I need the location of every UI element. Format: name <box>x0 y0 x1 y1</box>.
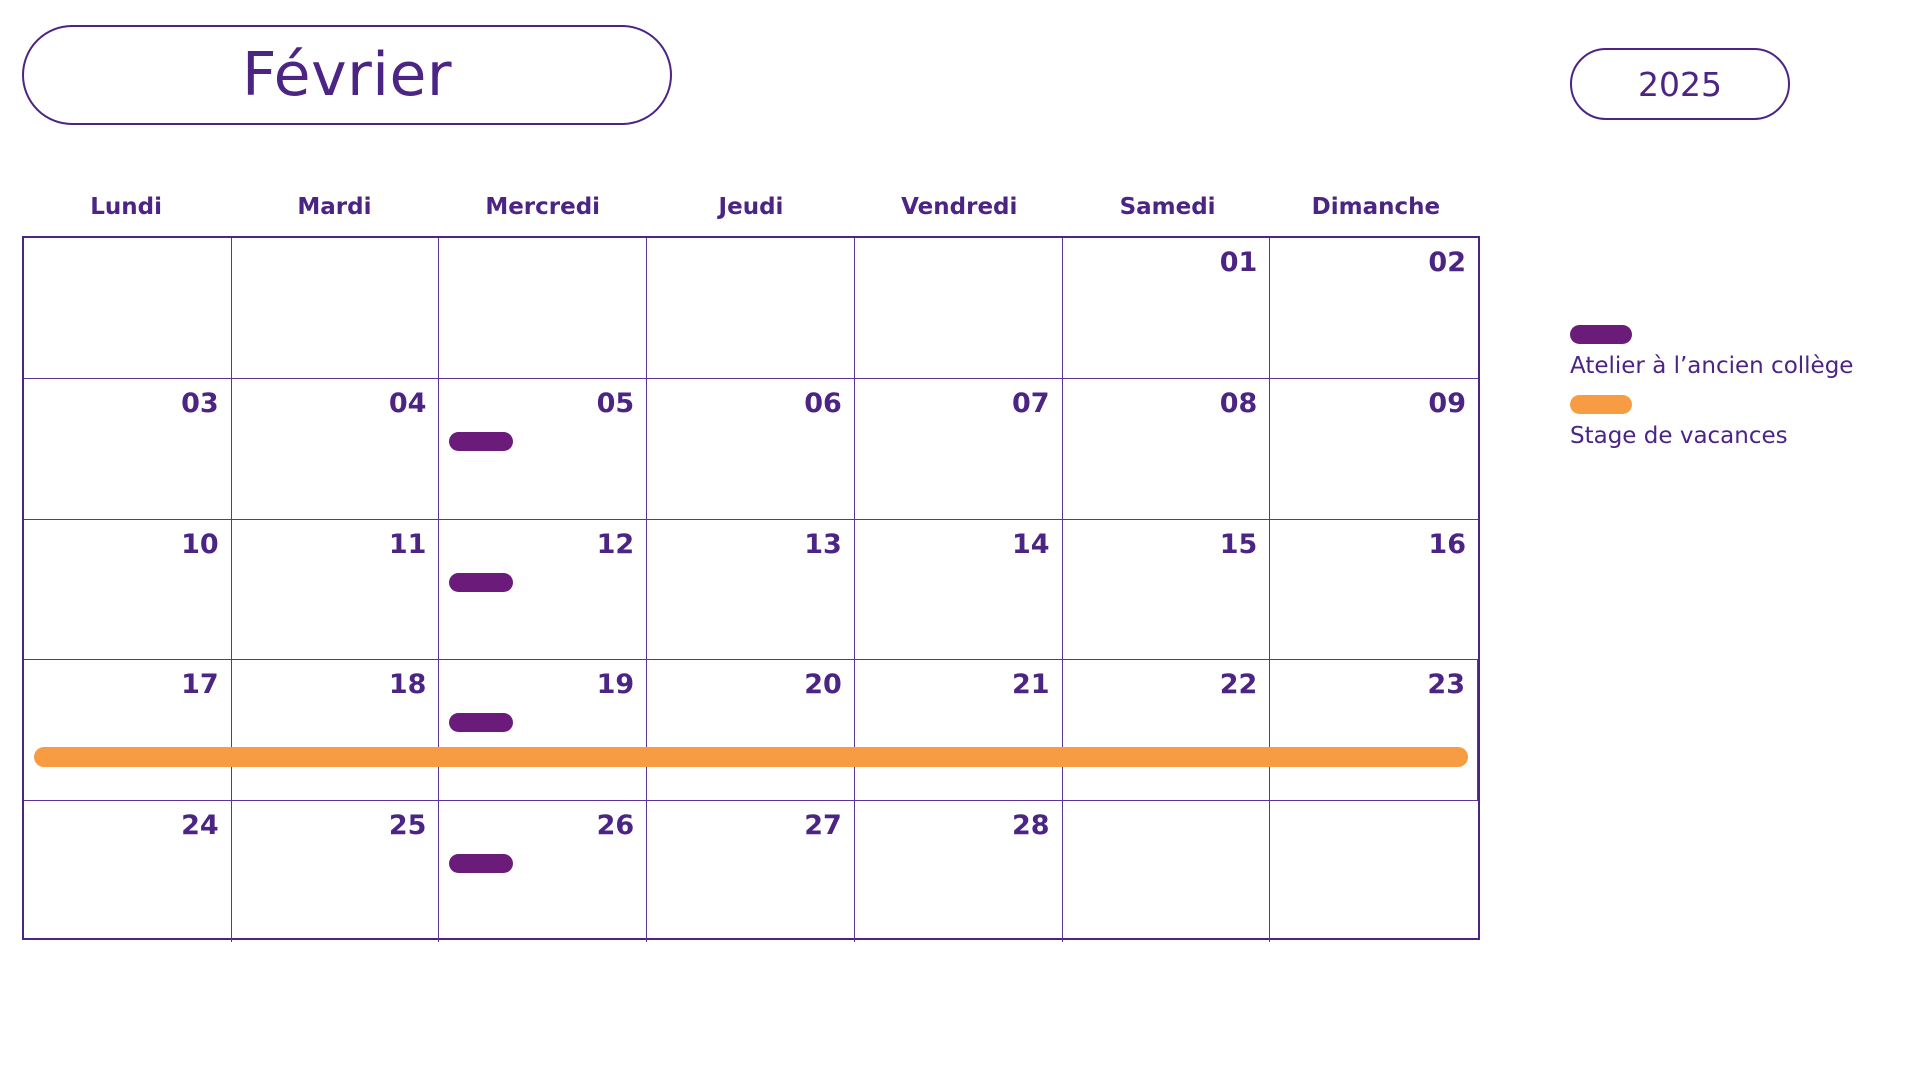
day-cell-28[interactable]: 28 <box>855 801 1063 942</box>
day-cell-empty <box>439 238 647 378</box>
day-cell-04[interactable]: 04 <box>232 379 440 519</box>
day-number: 16 <box>1270 530 1466 560</box>
day-number: 11 <box>232 530 427 560</box>
day-number: 24 <box>24 811 219 841</box>
event-pill-atelier[interactable] <box>449 432 513 451</box>
day-cell-05[interactable]: 05 <box>439 379 647 519</box>
day-number: 04 <box>232 389 427 419</box>
legend-swatch-icon <box>1570 395 1632 414</box>
day-cell-06[interactable]: 06 <box>647 379 855 519</box>
day-cell-16[interactable]: 16 <box>1270 520 1478 660</box>
day-number: 08 <box>1063 389 1258 419</box>
day-cell-empty <box>1063 801 1271 942</box>
weekday-header-vendredi: Vendredi <box>855 190 1063 224</box>
day-cell-07[interactable]: 07 <box>855 379 1063 519</box>
day-number: 28 <box>855 811 1050 841</box>
day-number: 10 <box>24 530 219 560</box>
day-number: 02 <box>1270 248 1466 278</box>
calendar-week-row: 17181920212223 <box>24 660 1478 801</box>
day-cell-empty <box>647 238 855 378</box>
year-label: 2025 <box>1638 68 1722 101</box>
calendar-week-row: 03040506070809 <box>24 379 1478 520</box>
day-cell-01[interactable]: 01 <box>1063 238 1271 378</box>
weekday-header-samedi: Samedi <box>1063 190 1271 224</box>
day-cell-19[interactable]: 19 <box>439 660 647 800</box>
legend-item: Stage de vacances <box>1570 395 1890 451</box>
legend-label: Atelier à l’ancien collège <box>1570 352 1890 381</box>
event-span-bar-stage[interactable] <box>34 747 1468 767</box>
day-cell-20[interactable]: 20 <box>647 660 855 800</box>
month-selector[interactable]: Février <box>22 25 672 125</box>
day-cell-11[interactable]: 11 <box>232 520 440 660</box>
day-cell-10[interactable]: 10 <box>24 520 232 660</box>
day-number: 06 <box>647 389 842 419</box>
calendar-grid: 0102030405060708091011121314151617181920… <box>22 236 1480 940</box>
day-cell-empty <box>1270 801 1478 942</box>
day-number: 21 <box>855 670 1050 700</box>
day-cell-02[interactable]: 02 <box>1270 238 1478 378</box>
day-cell-14[interactable]: 14 <box>855 520 1063 660</box>
day-cell-13[interactable]: 13 <box>647 520 855 660</box>
weekday-header-mardi: Mardi <box>230 190 438 224</box>
year-selector[interactable]: 2025 <box>1570 48 1790 120</box>
legend: Atelier à l’ancien collègeStage de vacan… <box>1570 325 1890 465</box>
day-number: 25 <box>232 811 427 841</box>
day-number: 05 <box>439 389 634 419</box>
day-cell-empty <box>232 238 440 378</box>
day-cell-23[interactable]: 23 <box>1270 660 1478 800</box>
day-cell-09[interactable]: 09 <box>1270 379 1478 519</box>
day-number: 09 <box>1270 389 1466 419</box>
day-number: 14 <box>855 530 1050 560</box>
weekday-header-lundi: Lundi <box>22 190 230 224</box>
day-cell-12[interactable]: 12 <box>439 520 647 660</box>
day-cell-17[interactable]: 17 <box>24 660 232 800</box>
day-cell-21[interactable]: 21 <box>855 660 1063 800</box>
weekday-header-jeudi: Jeudi <box>647 190 855 224</box>
day-number: 23 <box>1270 670 1465 700</box>
day-cell-03[interactable]: 03 <box>24 379 232 519</box>
day-cell-22[interactable]: 22 <box>1063 660 1271 800</box>
event-pill-atelier[interactable] <box>449 713 513 732</box>
day-number: 18 <box>232 670 427 700</box>
day-number: 03 <box>24 389 219 419</box>
day-number: 12 <box>439 530 634 560</box>
weekday-header-row: LundiMardiMercrediJeudiVendrediSamediDim… <box>22 190 1480 224</box>
day-cell-18[interactable]: 18 <box>232 660 440 800</box>
calendar-week-row: 2425262728 <box>24 801 1478 942</box>
day-number: 17 <box>24 670 219 700</box>
day-number: 07 <box>855 389 1050 419</box>
day-cell-empty <box>855 238 1063 378</box>
day-cell-24[interactable]: 24 <box>24 801 232 942</box>
event-pill-atelier[interactable] <box>449 573 513 592</box>
event-pill-atelier[interactable] <box>449 854 513 873</box>
day-number: 13 <box>647 530 842 560</box>
day-number: 20 <box>647 670 842 700</box>
calendar-week-row: 10111213141516 <box>24 520 1478 661</box>
month-title: Février <box>242 45 452 105</box>
day-number: 26 <box>439 811 634 841</box>
day-number: 27 <box>647 811 842 841</box>
day-cell-26[interactable]: 26 <box>439 801 647 942</box>
day-cell-27[interactable]: 27 <box>647 801 855 942</box>
day-number: 19 <box>439 670 634 700</box>
day-number: 22 <box>1063 670 1258 700</box>
day-number: 15 <box>1063 530 1258 560</box>
legend-swatch-icon <box>1570 325 1632 344</box>
day-number: 01 <box>1063 248 1258 278</box>
day-cell-empty <box>24 238 232 378</box>
legend-label: Stage de vacances <box>1570 422 1890 451</box>
day-cell-08[interactable]: 08 <box>1063 379 1271 519</box>
day-cell-15[interactable]: 15 <box>1063 520 1271 660</box>
weekday-header-mercredi: Mercredi <box>439 190 647 224</box>
calendar-week-row: 0102 <box>24 238 1478 379</box>
day-cell-25[interactable]: 25 <box>232 801 440 942</box>
legend-item: Atelier à l’ancien collège <box>1570 325 1890 381</box>
weekday-header-dimanche: Dimanche <box>1272 190 1480 224</box>
